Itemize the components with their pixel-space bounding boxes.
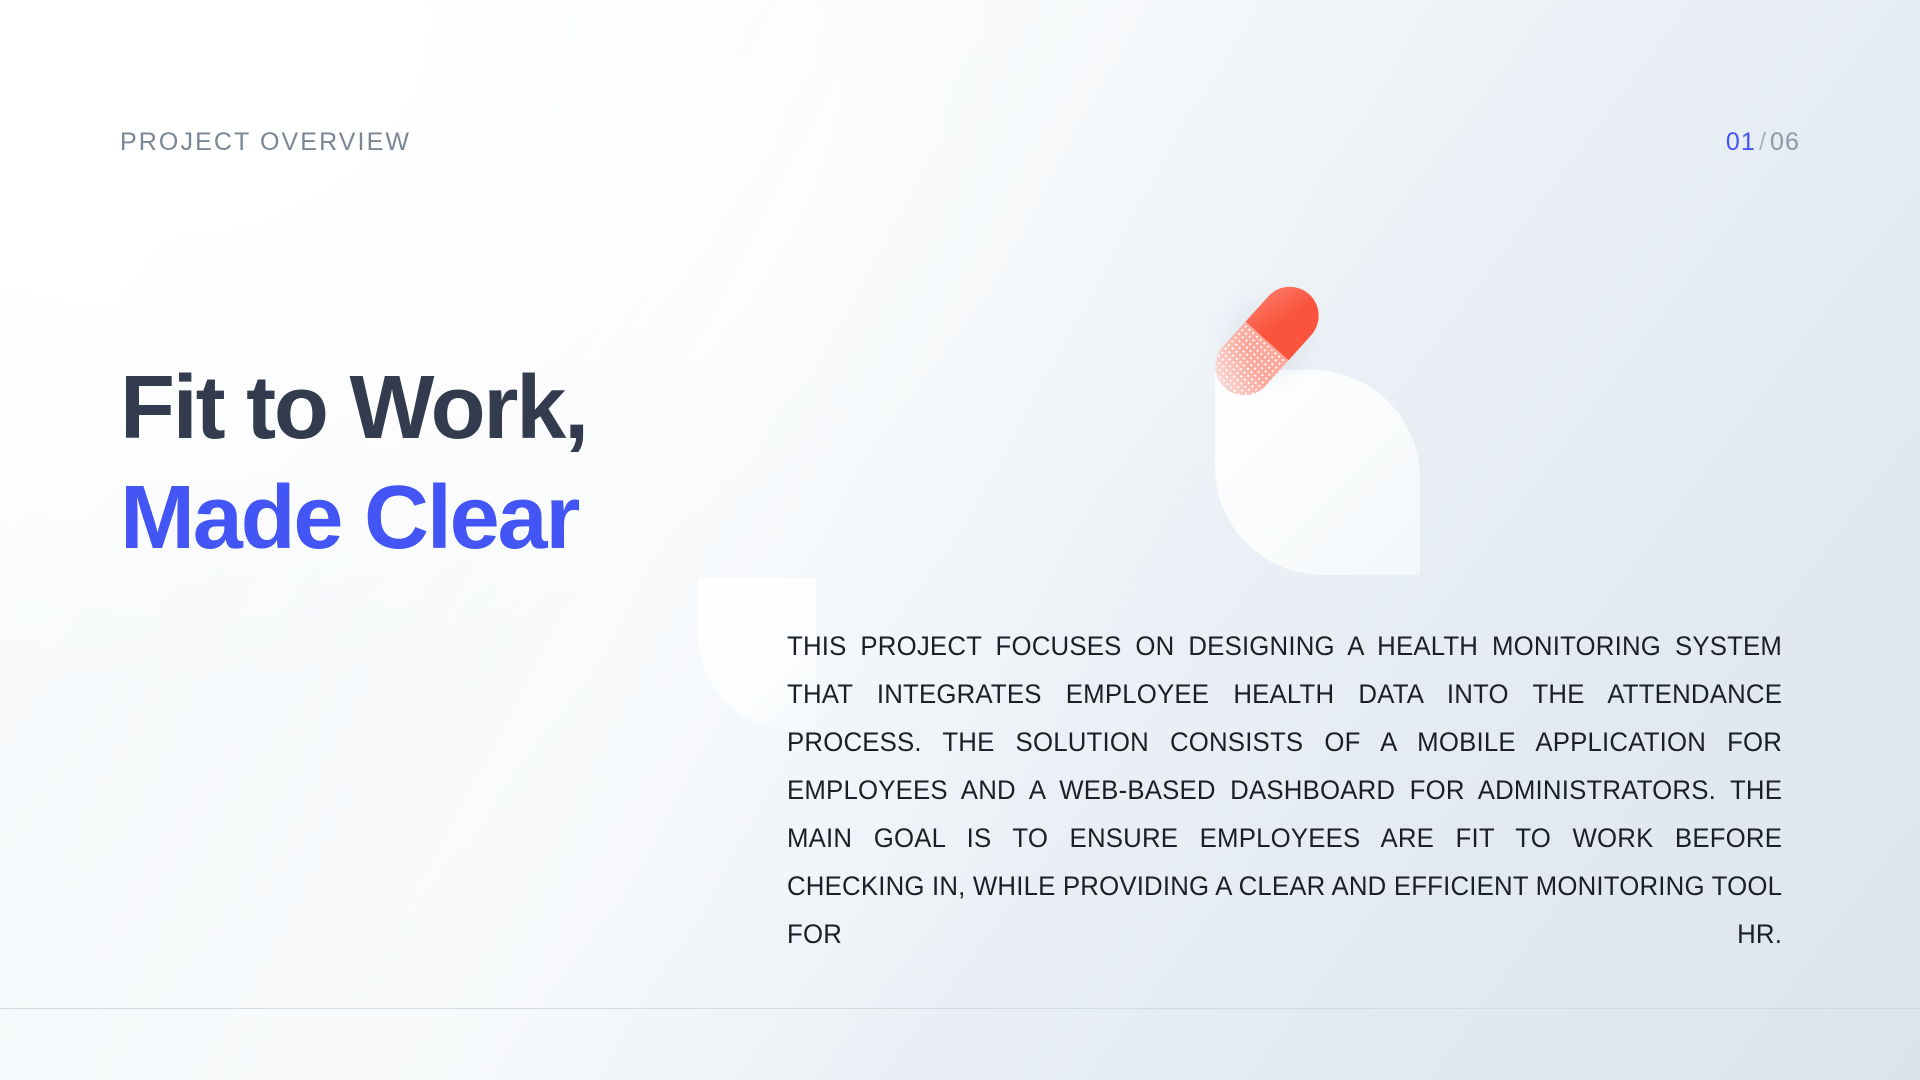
slide-canvas: PROJECT OVERVIEW 01/06 Fit to Work, Made… bbox=[0, 0, 1920, 1080]
section-eyebrow-label: PROJECT OVERVIEW bbox=[120, 128, 411, 157]
page-title-line-two: Made Clear bbox=[120, 472, 587, 566]
slide-header: PROJECT OVERVIEW 01/06 bbox=[120, 128, 1800, 157]
page-indicator-separator: / bbox=[1759, 128, 1767, 156]
page-title-line-one: Fit to Work, bbox=[120, 362, 587, 456]
capsule-pill-icon bbox=[1212, 272, 1328, 388]
slide-page-indicator: 01/06 bbox=[1726, 128, 1800, 157]
bottom-divider bbox=[0, 1008, 1920, 1009]
page-title: Fit to Work, Made Clear bbox=[120, 362, 587, 565]
page-indicator-current: 01 bbox=[1726, 128, 1756, 156]
project-description-paragraph: THIS PROJECT FOCUSES ON DESIGNING A HEAL… bbox=[787, 622, 1782, 1006]
page-indicator-total: 06 bbox=[1770, 128, 1800, 156]
